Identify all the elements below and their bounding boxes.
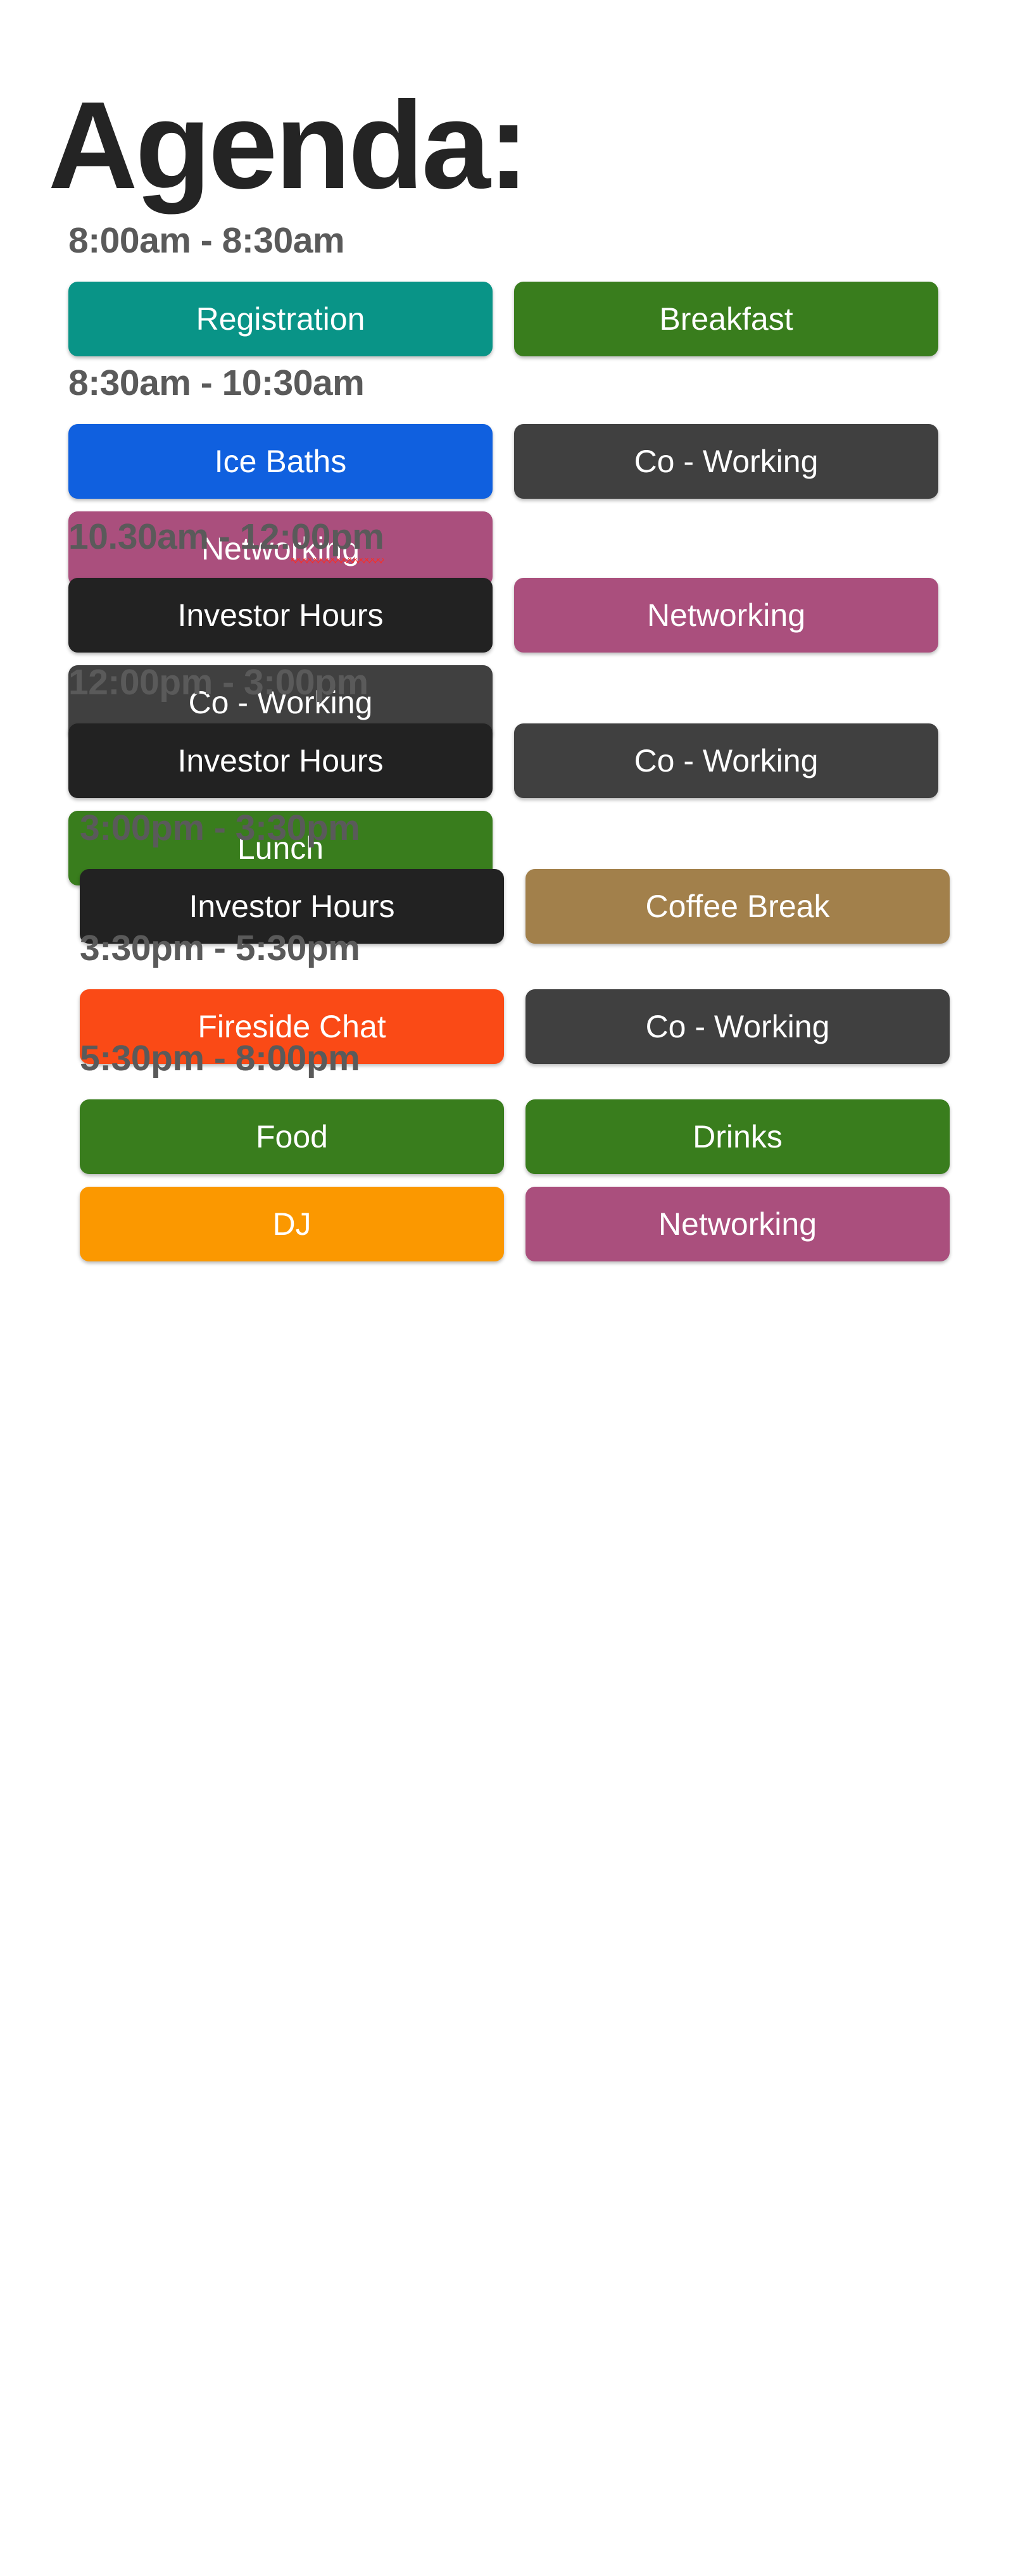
session-chip-label: Investor Hours <box>189 888 394 925</box>
session-chip[interactable]: Ice Baths <box>68 424 493 499</box>
session-chip[interactable]: Co - Working <box>514 723 938 798</box>
session-chip[interactable]: Drinks <box>525 1099 950 1174</box>
session-chip[interactable]: Networking <box>514 578 938 653</box>
session-chip-label: Co - Working <box>634 443 819 480</box>
session-chip-grid: RegistrationBreakfast <box>68 282 938 356</box>
time-range-label: 3:30pm - 5:30pm <box>80 930 360 966</box>
session-chip-label: Ice Baths <box>215 443 346 480</box>
session-chip-label: Investor Hours <box>177 742 383 779</box>
session-chip-label: Co - Working <box>634 742 819 779</box>
session-chip-label: Investor Hours <box>177 597 383 634</box>
time-range-label: 3:00pm - 3:30pm <box>80 810 360 846</box>
agenda-section: 5:30pm - 8:00pmFoodDrinksDJNetworking <box>0 1041 1013 1261</box>
session-chip-label: Co - Working <box>646 1008 830 1045</box>
session-chip[interactable]: Breakfast <box>514 282 938 356</box>
spellcheck-underline: 00pm <box>291 519 384 555</box>
session-chip-label: DJ <box>272 1206 311 1242</box>
session-chip-label: Drinks <box>693 1118 783 1155</box>
agenda-section: 3:00pm - 3:30pmInvestor HoursCoffee Brea… <box>0 810 1013 944</box>
session-chip[interactable]: DJ <box>80 1187 504 1261</box>
time-range-label: 10.30am - 12:00pm <box>68 519 384 555</box>
time-range-text: 10.30am - 12: <box>68 516 291 557</box>
time-range-label: 8:00am - 8:30am <box>68 223 344 259</box>
session-chip-label: Coffee Break <box>646 888 830 925</box>
session-chip-label: Networking <box>647 597 805 634</box>
agenda-page: Agenda: 8:00am - 8:30amRegistrationBreak… <box>0 0 1013 2576</box>
session-chip-label: Networking <box>658 1206 817 1242</box>
session-chip[interactable]: Investor Hours <box>68 723 493 798</box>
session-chip[interactable]: Food <box>80 1099 504 1174</box>
time-range-label: 5:30pm - 8:00pm <box>80 1041 360 1077</box>
session-chip[interactable]: Networking <box>525 1187 950 1261</box>
session-chip-label: Registration <box>196 301 365 337</box>
agenda-section: 8:00am - 8:30amRegistrationBreakfast <box>0 223 1013 356</box>
time-range-label: 12:00pm - 3:00pm <box>68 665 368 701</box>
session-chip-label: Breakfast <box>659 301 793 337</box>
session-chip[interactable]: Co - Working <box>514 424 938 499</box>
session-chip[interactable]: Registration <box>68 282 493 356</box>
session-chip[interactable]: Investor Hours <box>68 578 493 653</box>
time-range-label: 8:30am - 10:30am <box>68 365 364 401</box>
session-chip-grid: FoodDrinksDJNetworking <box>80 1099 950 1261</box>
session-chip-label: Food <box>256 1118 328 1155</box>
page-title: Agenda: <box>48 68 527 223</box>
